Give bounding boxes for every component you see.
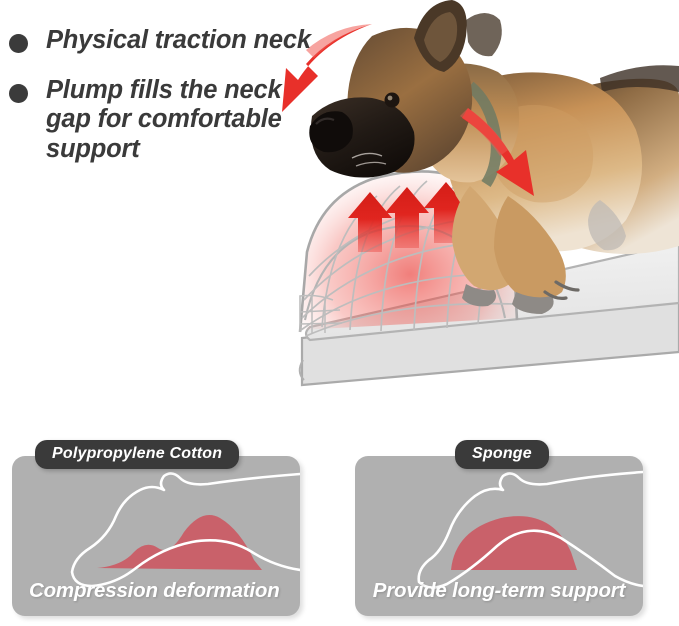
- bullet-dot-icon: [9, 34, 28, 53]
- feature-bullet-text: Physical traction neck: [46, 26, 311, 56]
- feature-bullet-list: Physical traction neck Plump fills the n…: [0, 26, 330, 184]
- comparison-panel-polypropylene-cotton: Compression deformation: [12, 456, 300, 616]
- feature-bullet-item: Physical traction neck: [0, 26, 330, 56]
- material-badge-sponge: Sponge: [455, 440, 549, 469]
- cushion-fill-shape: [451, 516, 577, 570]
- feature-bullet-item: Plump fills the neck gap for comfortable…: [0, 76, 330, 165]
- panel-caption: Compression deformation: [12, 579, 280, 603]
- panel-caption: Provide long-term support: [355, 579, 643, 603]
- cushion-fill-shape: [97, 515, 262, 570]
- dog-profile-outline: [419, 472, 643, 588]
- feature-bullet-text: Plump fills the neck gap for comfortable…: [46, 76, 314, 165]
- material-badge-polypropylene-cotton: Polypropylene Cotton: [35, 440, 239, 469]
- bullet-dot-icon: [9, 84, 28, 103]
- material-comparison-section: Compression deformation Provide long-ter…: [0, 440, 679, 626]
- comparison-panel-sponge: Provide long-term support: [355, 456, 643, 616]
- infographic-canvas: Physical traction neck Plump fills the n…: [0, 0, 679, 626]
